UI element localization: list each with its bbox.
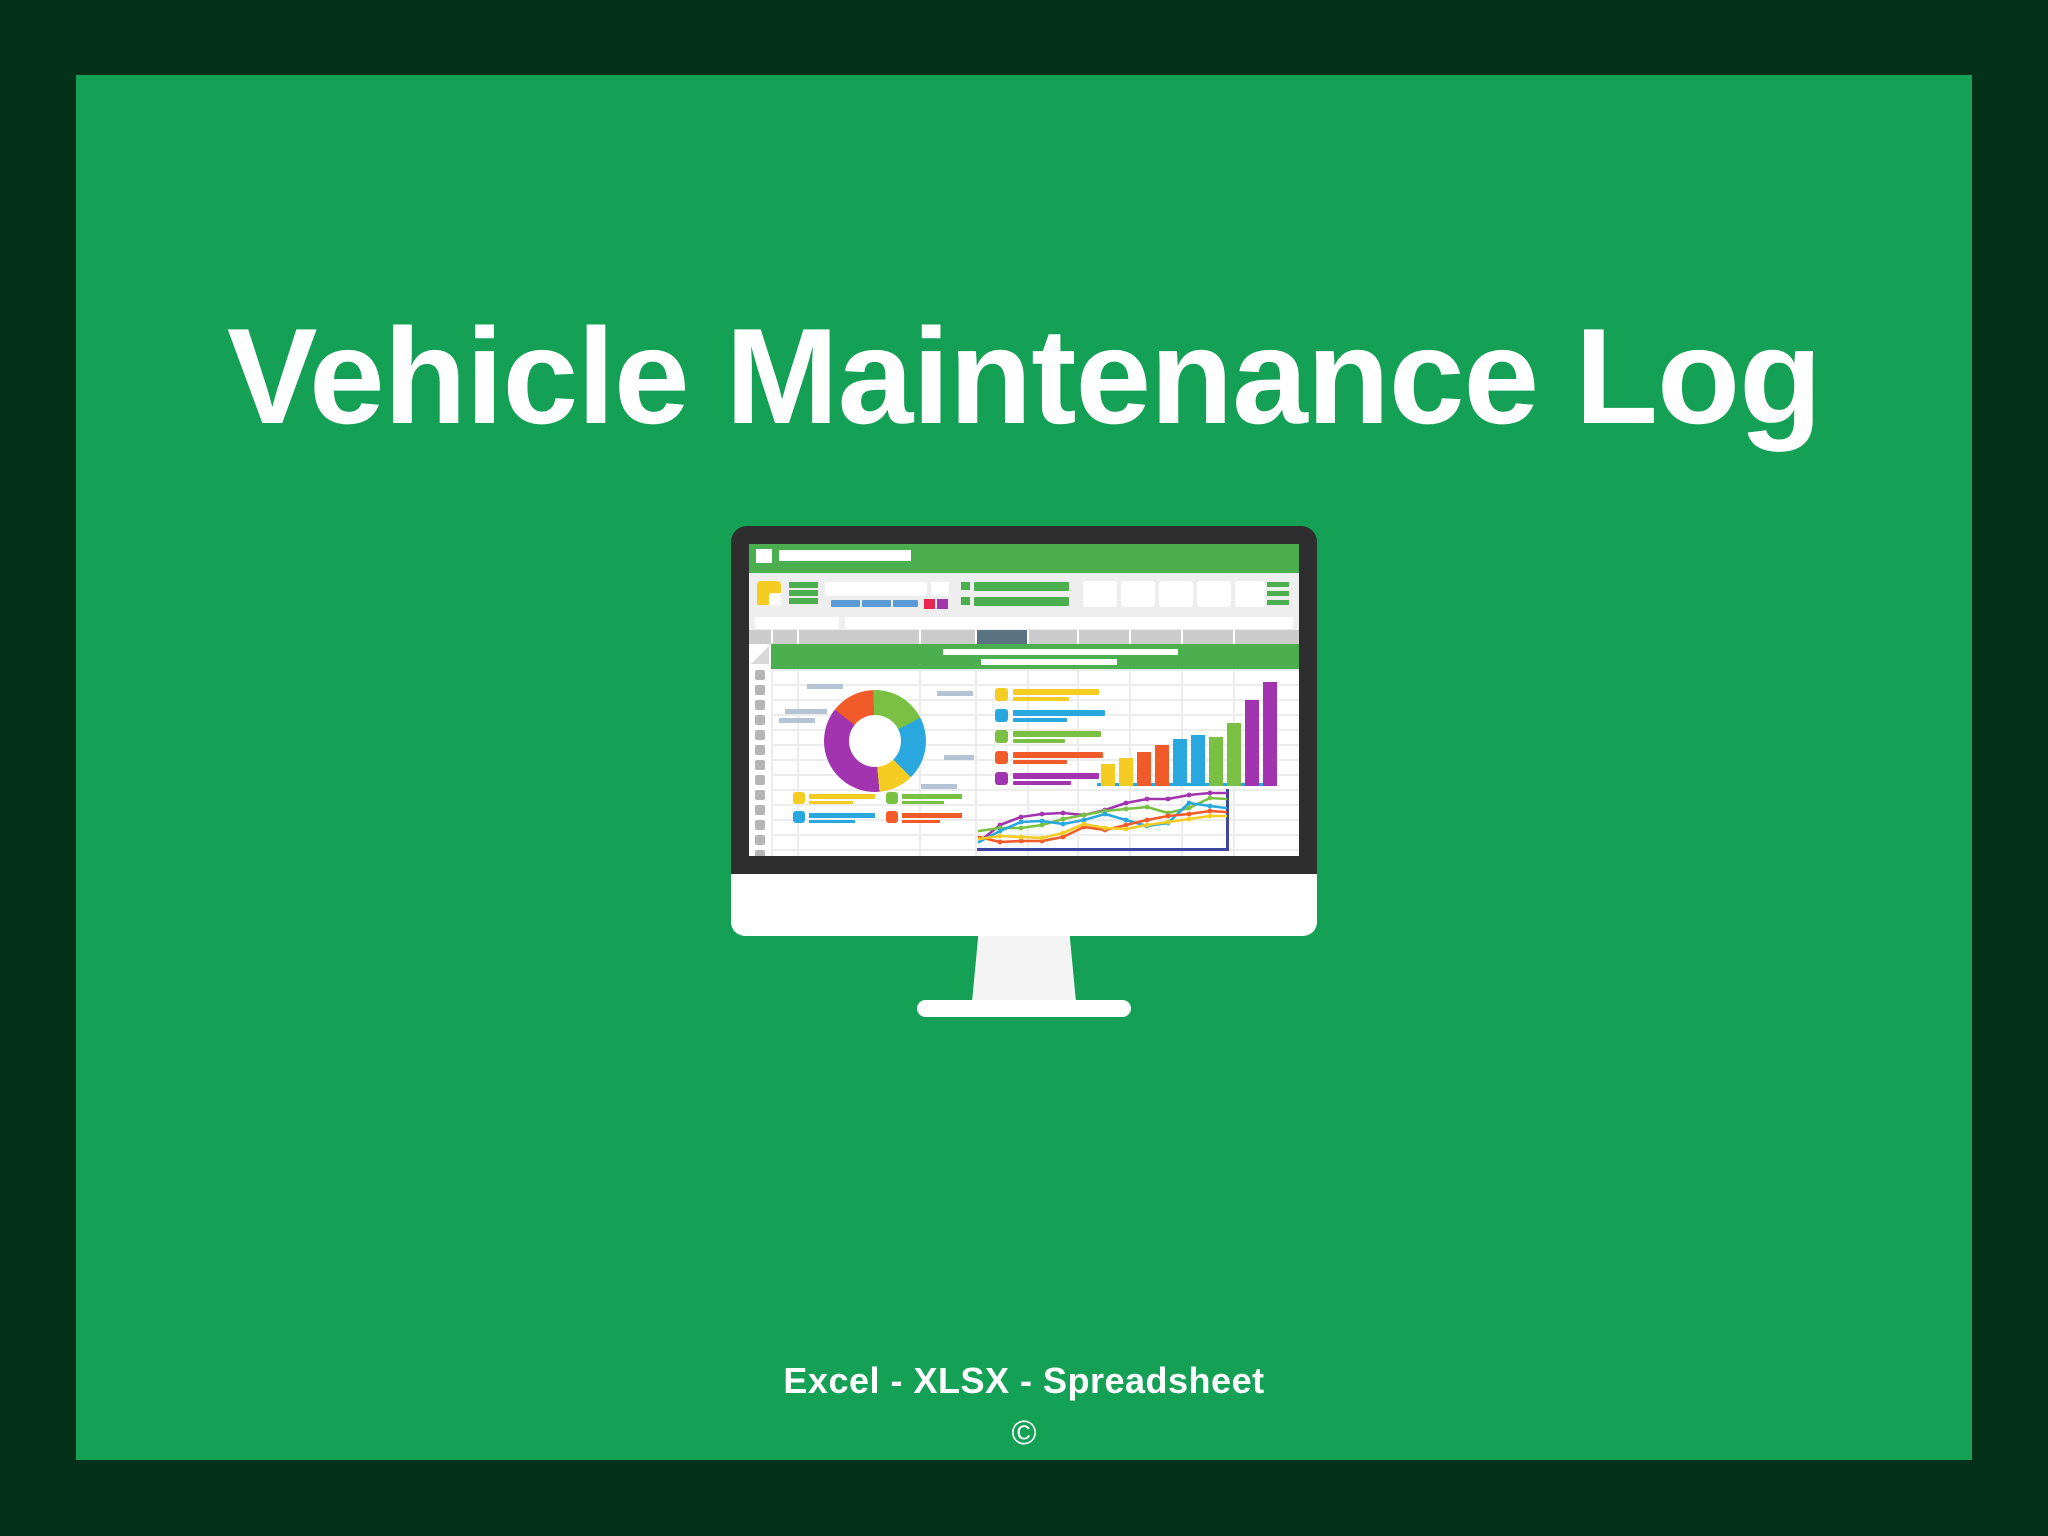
ribbon-color-swatch-pink (924, 599, 935, 609)
ribbon-align-button-1 (831, 600, 860, 607)
row-header-chip[interactable] (755, 835, 765, 845)
line-chart (977, 789, 1229, 851)
column-separator (1129, 630, 1131, 644)
column-bar (1155, 745, 1169, 786)
legend-bar-orange-short (1013, 760, 1067, 764)
donut-label-bar (785, 709, 827, 714)
select-all-corner[interactable] (749, 644, 771, 666)
legend-swatch-purple (995, 772, 1008, 785)
folder-icon (757, 581, 781, 605)
row-header-column (749, 666, 771, 856)
monitor-chin (731, 874, 1317, 936)
ribbon-group-b-bar1 (991, 582, 1069, 591)
column-separator (1027, 630, 1029, 644)
column-separator (1181, 630, 1183, 644)
poster-root: Vehicle Maintenance Log (0, 0, 2048, 1536)
line-chart-svg (977, 789, 1229, 851)
grid-line-h (749, 669, 1299, 671)
corner-triangle-icon (751, 646, 769, 664)
column-bar (1137, 752, 1151, 786)
grid-line-v (797, 644, 799, 856)
donut-label-bar (937, 691, 973, 696)
mini-legend-bar-long (809, 794, 875, 799)
donut-chart (824, 690, 926, 792)
legend-bar-yellow-long (1013, 689, 1099, 695)
active-column-header[interactable] (977, 630, 1027, 644)
ribbon-group-a-line2 (789, 590, 818, 596)
row-header-chip[interactable] (755, 850, 765, 856)
legend-bar-yellow-short (1013, 697, 1069, 701)
footer-format-label: Excel - XLSX - Spreadsheet (76, 1360, 1972, 1402)
monitor-stand-neck (972, 936, 1076, 1002)
menu-icon-line-1 (1267, 582, 1289, 587)
donut-label-bar (807, 684, 843, 689)
monitor-screen (749, 544, 1299, 856)
banner-text-bar-2 (981, 659, 1117, 665)
mini-legend-bar-long (902, 794, 962, 799)
ribbon-group-b-chip1 (961, 582, 970, 590)
legend-swatch-green (995, 730, 1008, 743)
legend-bar-orange-long (1013, 752, 1103, 758)
ribbon-group-a-line1 (789, 582, 818, 588)
ribbon-button-3 (1159, 581, 1193, 607)
ribbon-button-4 (1197, 581, 1231, 607)
legend-bar-green-short (1013, 739, 1065, 743)
row-header-chip[interactable] (755, 745, 765, 755)
legend-swatch-yellow (995, 688, 1008, 701)
legend-swatch-orange (995, 751, 1008, 764)
sheet-title-banner (771, 644, 1299, 669)
app-title-placeholder-bar (779, 550, 911, 561)
row-header-chip[interactable] (755, 730, 765, 740)
legend-swatch-blue (995, 709, 1008, 722)
formula-input (845, 617, 1293, 629)
mini-legend-swatch (793, 792, 805, 804)
monitor-stand-base (917, 1000, 1131, 1017)
page-title: Vehicle Maintenance Log (76, 305, 1972, 448)
row-header-chip[interactable] (755, 820, 765, 830)
ribbon-button-1 (1083, 581, 1117, 607)
mini-legend-swatch (886, 792, 898, 804)
row-header-chip[interactable] (755, 805, 765, 815)
mini-legend-bar-short (902, 820, 940, 823)
legend-bar-purple-long (1013, 773, 1099, 779)
row-header-chip[interactable] (755, 685, 765, 695)
column-separator (1077, 630, 1079, 644)
ribbon-button-5 (1235, 581, 1265, 607)
column-separator (919, 630, 921, 644)
grid-line-v (771, 644, 773, 856)
mini-legend-bar-short (809, 820, 855, 823)
ribbon-color-swatch-purple (937, 599, 948, 609)
mini-legend-bar-short (809, 801, 853, 804)
copyright-icon: © (76, 1416, 1972, 1450)
mini-legend-swatch (793, 811, 805, 823)
spreadsheet-grid[interactable] (749, 644, 1299, 856)
column-separator (797, 630, 799, 644)
column-bar (1173, 739, 1187, 786)
green-panel: Vehicle Maintenance Log (76, 75, 1972, 1460)
menu-icon-line-3 (1267, 600, 1289, 605)
column-bar (1191, 735, 1205, 786)
ribbon-group-a-line3 (789, 598, 818, 604)
column-bar (1227, 723, 1241, 786)
row-header-chip[interactable] (755, 670, 765, 680)
column-bar (1245, 700, 1259, 786)
column-separator (1233, 630, 1235, 644)
app-titlebar (749, 544, 1299, 573)
column-bar (1101, 764, 1115, 786)
row-header-chip[interactable] (755, 775, 765, 785)
row-header-chip[interactable] (755, 790, 765, 800)
ribbon-group-b-bar2 (991, 597, 1069, 606)
name-box (755, 617, 839, 629)
mini-legend-bar-long (809, 813, 875, 818)
donut-label-bar (921, 784, 957, 789)
ribbon-font-size-field (931, 582, 949, 596)
donut-label-bar (779, 718, 815, 723)
ribbon-align-button-2 (862, 600, 891, 607)
formula-bar-row (749, 614, 1299, 630)
row-header-chip[interactable] (755, 715, 765, 725)
column-chart (1097, 682, 1277, 786)
ribbon-group-b-chip2 (961, 597, 970, 605)
donut-hole (849, 715, 901, 767)
legend-bar-blue-short (1013, 718, 1067, 722)
monitor-bezel (731, 526, 1317, 874)
column-separator (771, 630, 773, 644)
column-bar (1119, 758, 1133, 786)
legend-bar-green-long (1013, 731, 1101, 737)
ribbon-button-2 (1121, 581, 1155, 607)
mini-legend-swatch (886, 811, 898, 823)
row-header-chip[interactable] (755, 700, 765, 710)
mini-legend-bar-short (902, 801, 944, 804)
app-logo-icon (756, 549, 772, 563)
column-bar (1209, 737, 1223, 786)
app-ribbon-toolbar (749, 573, 1299, 614)
footer: Excel - XLSX - Spreadsheet © (76, 1360, 1972, 1450)
legend-bar-blue-long (1013, 710, 1105, 716)
column-bar (1263, 682, 1277, 786)
ribbon-align-button-3 (893, 600, 918, 607)
donut-label-bar (944, 755, 974, 760)
menu-icon-line-2 (1267, 591, 1289, 596)
row-header-chip[interactable] (755, 760, 765, 770)
banner-text-bar-1 (943, 649, 1178, 655)
monitor-illustration (731, 526, 1317, 1031)
mini-legend-bar-long (902, 813, 962, 818)
ribbon-font-name-field (825, 582, 927, 596)
legend-bar-purple-short (1013, 781, 1071, 785)
